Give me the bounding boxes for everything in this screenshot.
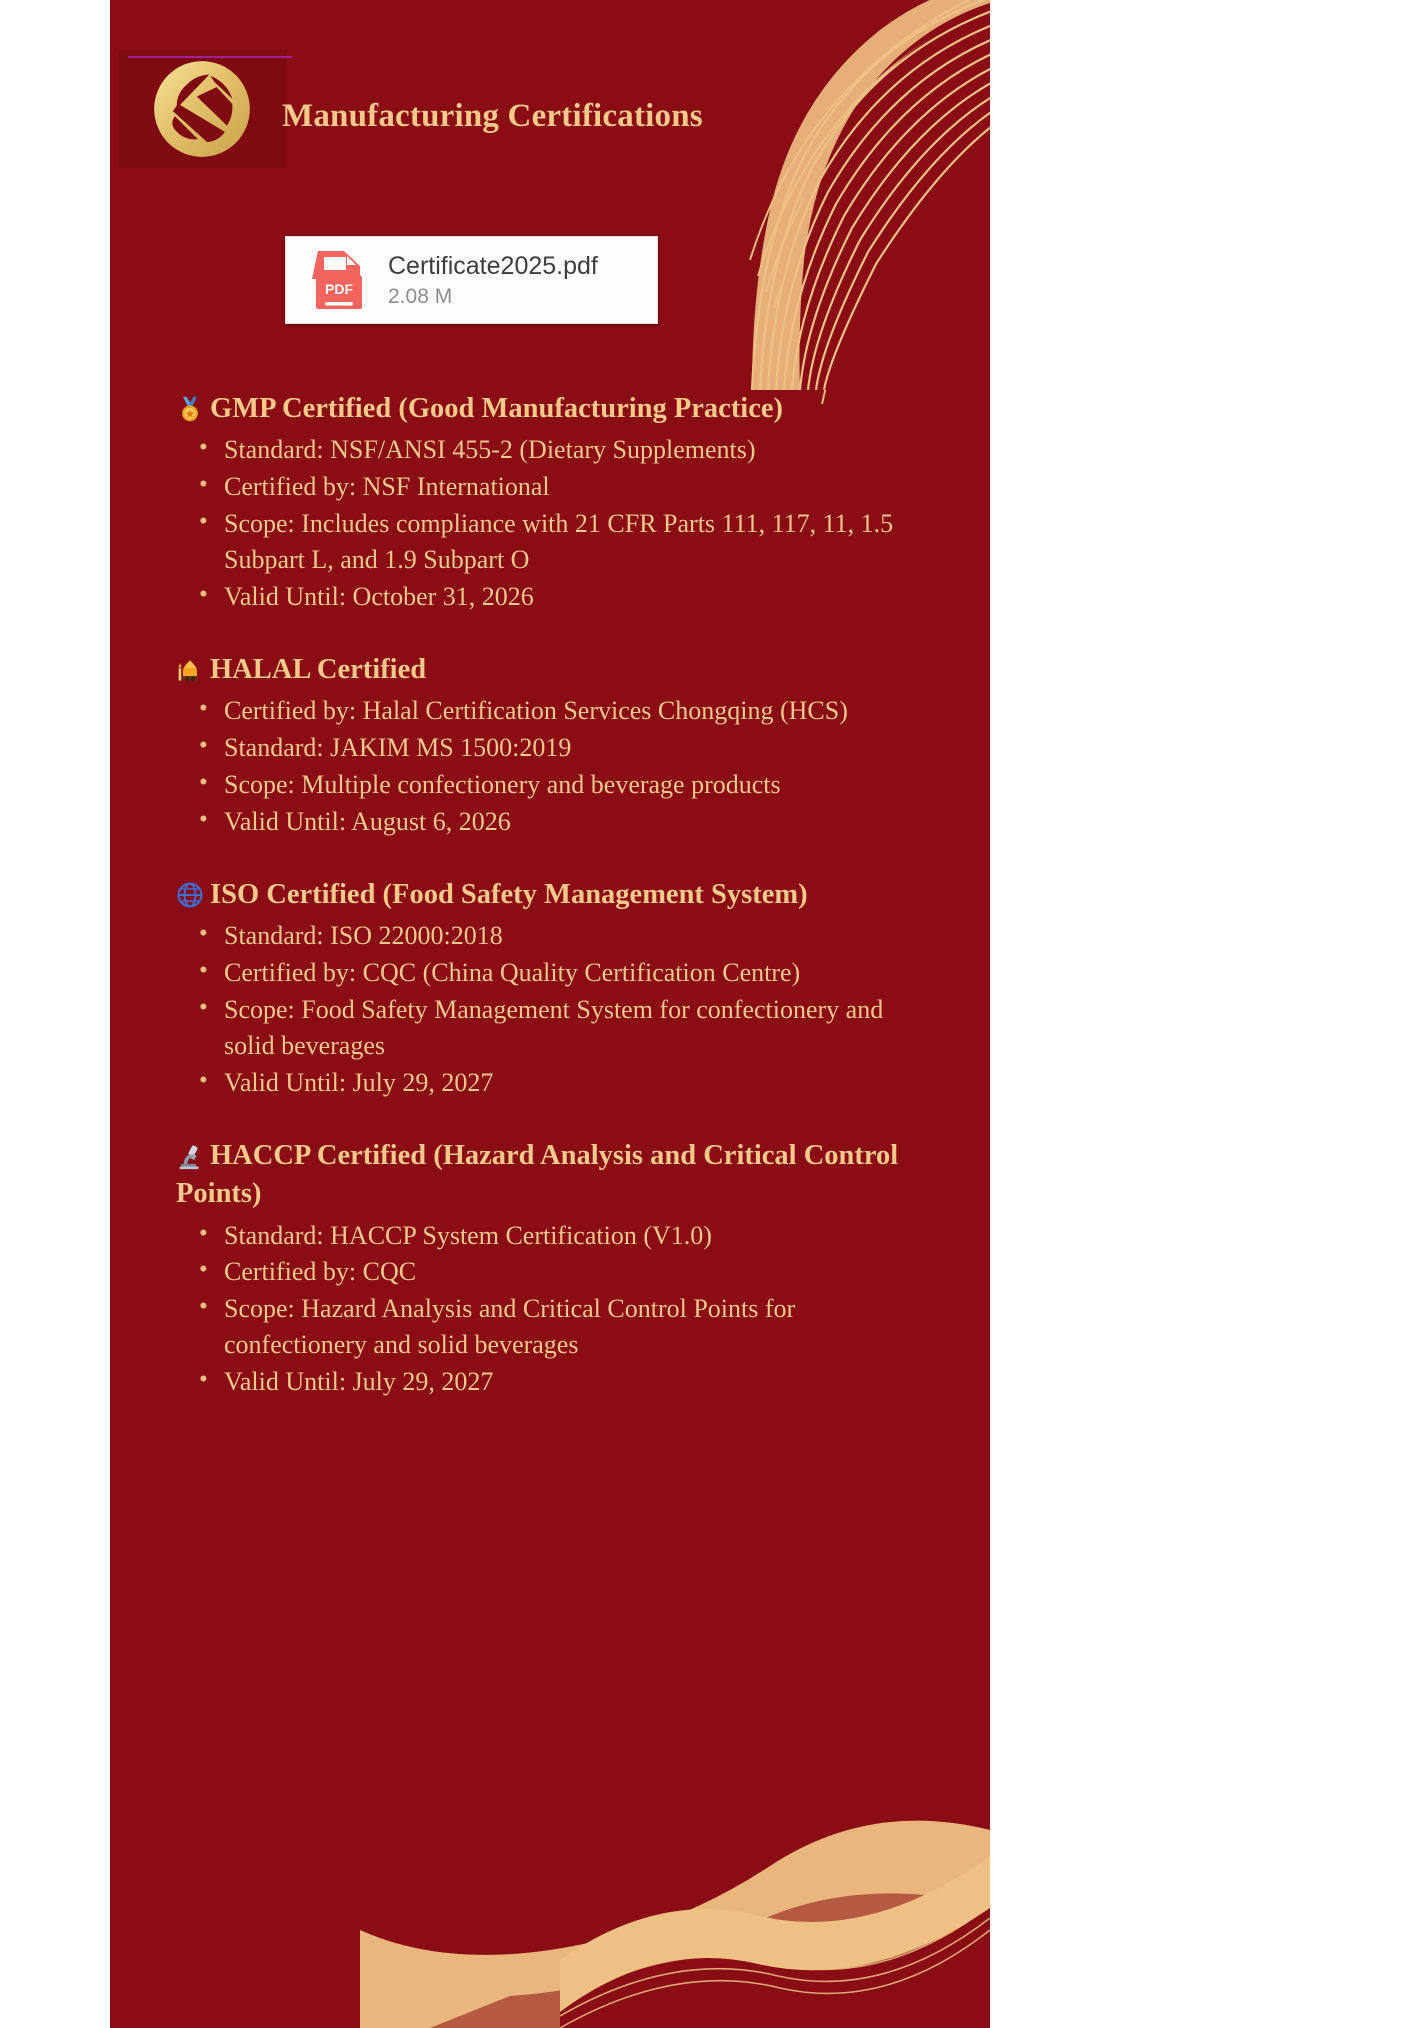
certification-heading: ISO Certified (Food Safety Management Sy…: [176, 876, 928, 914]
certification-bullet-list: Standard: NSF/ANSI 455-2 (Dietary Supple…: [176, 432, 928, 614]
certification-bullet: Scope: Hazard Analysis and Critical Cont…: [194, 1291, 928, 1363]
microscope-icon: [176, 1143, 204, 1172]
certification-bullet: Certified by: NSF International: [194, 469, 928, 505]
certification-section: HALAL CertifiedCertified by: Halal Certi…: [176, 651, 928, 840]
certification-bullet-list: Standard: HACCP System Certification (V1…: [176, 1218, 928, 1400]
svg-text:PDF: PDF: [325, 281, 353, 297]
certification-section: ISO Certified (Food Safety Management Sy…: [176, 876, 928, 1101]
globe-icon: [176, 882, 204, 911]
certification-list: GMP Certified (Good Manufacturing Practi…: [110, 390, 990, 1436]
page-header: Manufacturing Certifications: [110, 50, 990, 178]
logo-container: [118, 50, 286, 168]
certification-bullet-list: Standard: ISO 22000:2018Certified by: CQ…: [176, 918, 928, 1100]
certification-section: HACCP Certified (Hazard Analysis and Cri…: [176, 1137, 928, 1400]
page-title: Manufacturing Certifications: [282, 98, 703, 135]
certification-bullet: Certified by: Halal Certification Servic…: [194, 693, 928, 729]
certification-bullet: Certified by: CQC (China Quality Certifi…: [194, 955, 928, 991]
certification-bullet: Standard: NSF/ANSI 455-2 (Dietary Supple…: [194, 432, 928, 468]
certification-heading: GMP Certified (Good Manufacturing Practi…: [176, 390, 928, 428]
certification-bullet: Scope: Multiple confectionery and bevera…: [194, 767, 928, 803]
certification-heading-text: GMP Certified (Good Manufacturing Practi…: [210, 393, 783, 424]
logo-top-rule: [128, 56, 292, 58]
certification-heading: HACCP Certified (Hazard Analysis and Cri…: [176, 1137, 928, 1214]
attachment-file-size: 2.08 M: [388, 286, 598, 307]
certification-bullet: Valid Until: August 6, 2026: [194, 804, 928, 840]
certification-bullet: Standard: HACCP System Certification (V1…: [194, 1218, 928, 1254]
certification-bullet: Valid Until: July 29, 2027: [194, 1065, 928, 1101]
certification-heading-text: HALAL Certified: [210, 654, 426, 685]
certification-bullet: Valid Until: October 31, 2026: [194, 579, 928, 615]
certification-bullet: Standard: ISO 22000:2018: [194, 918, 928, 954]
attachment-text: Certificate2025.pdf 2.08 M: [388, 254, 598, 307]
certification-bullet: Scope: Food Safety Management System for…: [194, 992, 928, 1064]
certification-bullet: Valid Until: July 29, 2027: [194, 1364, 928, 1400]
attachment-file-name: Certificate2025.pdf: [388, 254, 598, 279]
certification-heading-text: HACCP Certified (Hazard Analysis and Cri…: [176, 1140, 898, 1209]
certification-bullet: Standard: JAKIM MS 1500:2019: [194, 730, 928, 766]
certification-bullet: Certified by: CQC: [194, 1254, 928, 1290]
right-margin: [990, 0, 1428, 2028]
certification-heading: HALAL Certified: [176, 651, 928, 689]
candy-emblem-logo-icon: [150, 57, 254, 161]
certification-bullet-list: Certified by: Halal Certification Servic…: [176, 693, 928, 840]
content-panel: Manufacturing Certifications PDF Certifi…: [110, 0, 990, 2028]
pdf-attachment-card[interactable]: PDF Certificate2025.pdf 2.08 M: [285, 236, 658, 324]
certification-page: Manufacturing Certifications PDF Certifi…: [0, 0, 1428, 2028]
certification-bullet: Scope: Includes compliance with 21 CFR P…: [194, 506, 928, 578]
certification-heading-text: ISO Certified (Food Safety Management Sy…: [210, 879, 808, 910]
pdf-file-icon: PDF: [312, 249, 366, 311]
mosque-icon: [176, 657, 204, 686]
medal-icon: [176, 396, 204, 425]
certification-section: GMP Certified (Good Manufacturing Practi…: [176, 390, 928, 615]
